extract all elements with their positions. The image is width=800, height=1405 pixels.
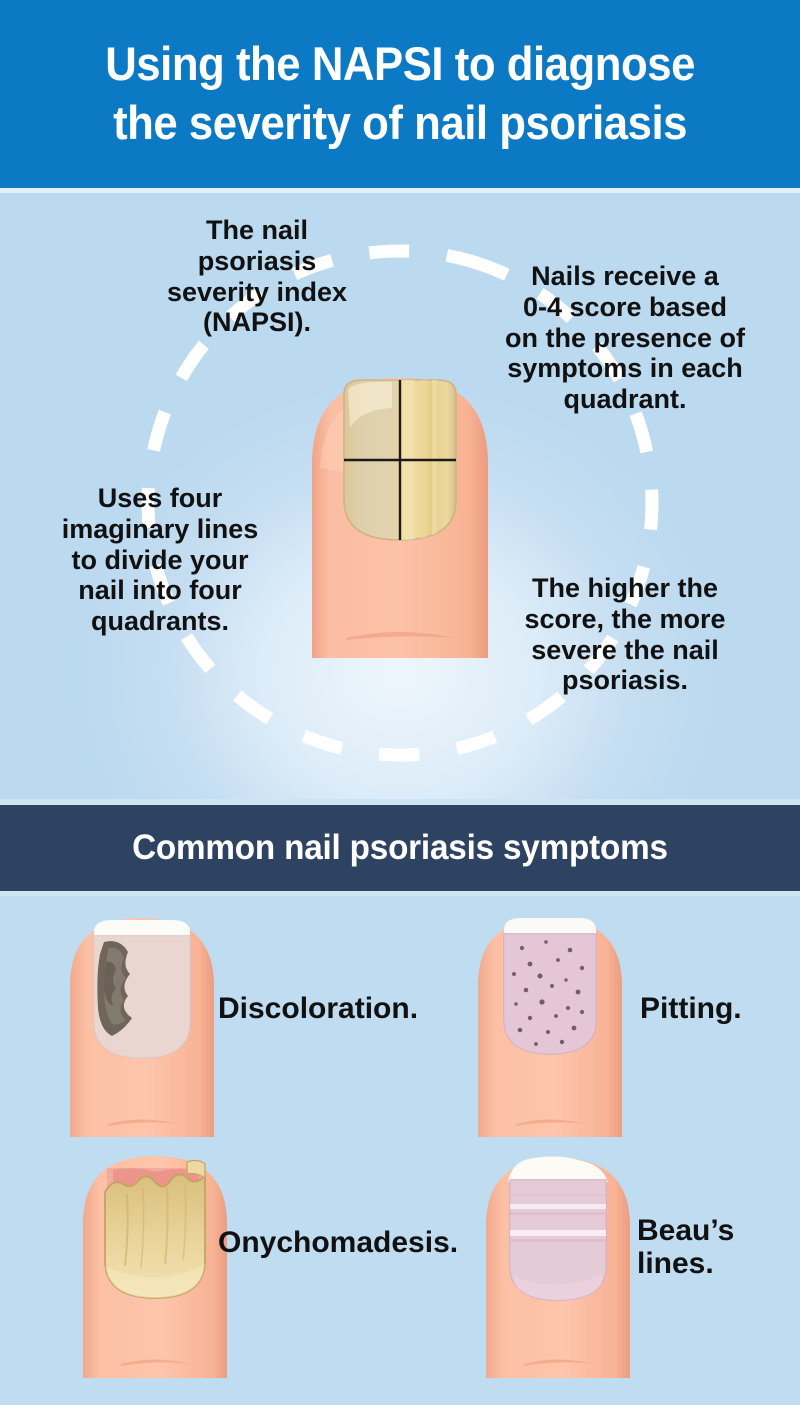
symptom-label-onychomadesis: Onychomadesis. bbox=[218, 1226, 458, 1259]
symptom-illustration-pitting bbox=[470, 912, 630, 1142]
symptom-illustration-beaus-lines bbox=[478, 1148, 638, 1383]
callout-score-range: Nails receive a 0-4 score based on the p… bbox=[490, 261, 760, 415]
nail-quadrant-illustration bbox=[300, 368, 500, 658]
callout-severity-scale: The higher the score, the more severe th… bbox=[500, 573, 750, 696]
infographic-page: Using the NAPSI to diagnose the severity… bbox=[0, 0, 800, 1405]
header-banner: Using the NAPSI to diagnose the severity… bbox=[0, 0, 800, 188]
napsi-diagram-section: The nail psoriasis severity index (NAPSI… bbox=[0, 193, 800, 805]
symptom-label-discoloration: Discoloration. bbox=[218, 992, 418, 1025]
symptom-illustration-onychomadesis bbox=[75, 1148, 235, 1383]
callout-napsi-definition: The nail psoriasis severity index (NAPSI… bbox=[152, 215, 362, 338]
section-title: Common nail psoriasis symptoms bbox=[132, 828, 668, 868]
symptom-label-pitting: Pitting. bbox=[640, 992, 742, 1025]
symptoms-section-header: Common nail psoriasis symptoms bbox=[0, 805, 800, 891]
page-title: Using the NAPSI to diagnose the severity… bbox=[88, 35, 711, 153]
symptoms-grid: Discoloration. bbox=[0, 896, 800, 1405]
callout-quadrant-lines: Uses four imaginary lines to divide your… bbox=[40, 483, 280, 637]
symptom-label-beaus-lines: Beau’s lines. bbox=[637, 1214, 734, 1280]
symptom-illustration-discoloration bbox=[62, 912, 222, 1142]
